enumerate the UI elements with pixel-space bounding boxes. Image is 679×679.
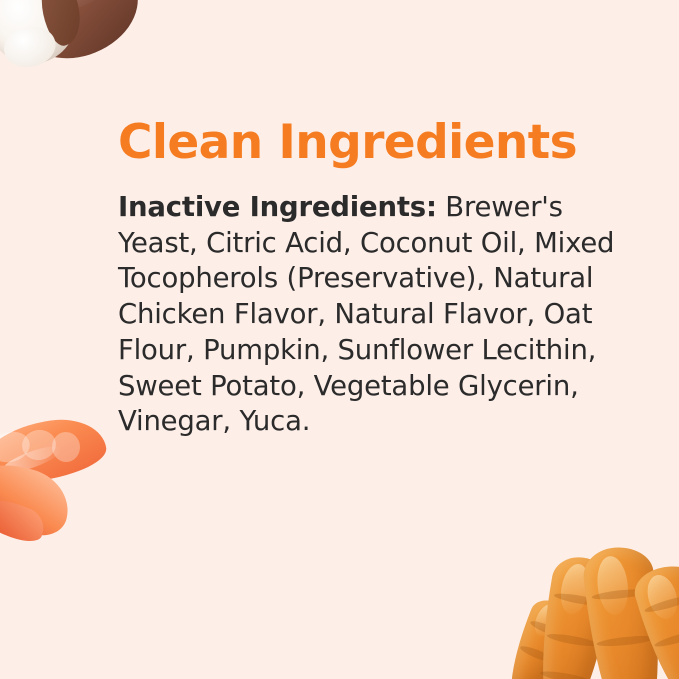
turmeric-ring [596,634,655,648]
shrimp-image [0,398,134,558]
inactive-ingredients-list: Brewer's Yeast, Citric Acid, Coconut Oil… [118,191,614,438]
inactive-ingredients-paragraph: Inactive Ingredients: Brewer's Yeast, Ci… [118,190,618,440]
turmeric-roots-image [469,519,679,679]
turmeric-highlight [594,554,631,616]
coconut-flesh-shape [0,0,82,72]
turmeric-highlight [642,572,679,623]
inactive-ingredients-label: Inactive Ingredients: [118,191,437,223]
turmeric-ring [653,627,679,650]
ingredients-card: Clean Ingredients Inactive Ingredients: … [0,0,679,679]
page-title: Clean Ingredients [118,118,646,168]
text-block: Clean Ingredients Inactive Ingredients: … [118,118,646,440]
coconut-half-image [0,0,136,100]
turmeric-ring [540,669,593,679]
